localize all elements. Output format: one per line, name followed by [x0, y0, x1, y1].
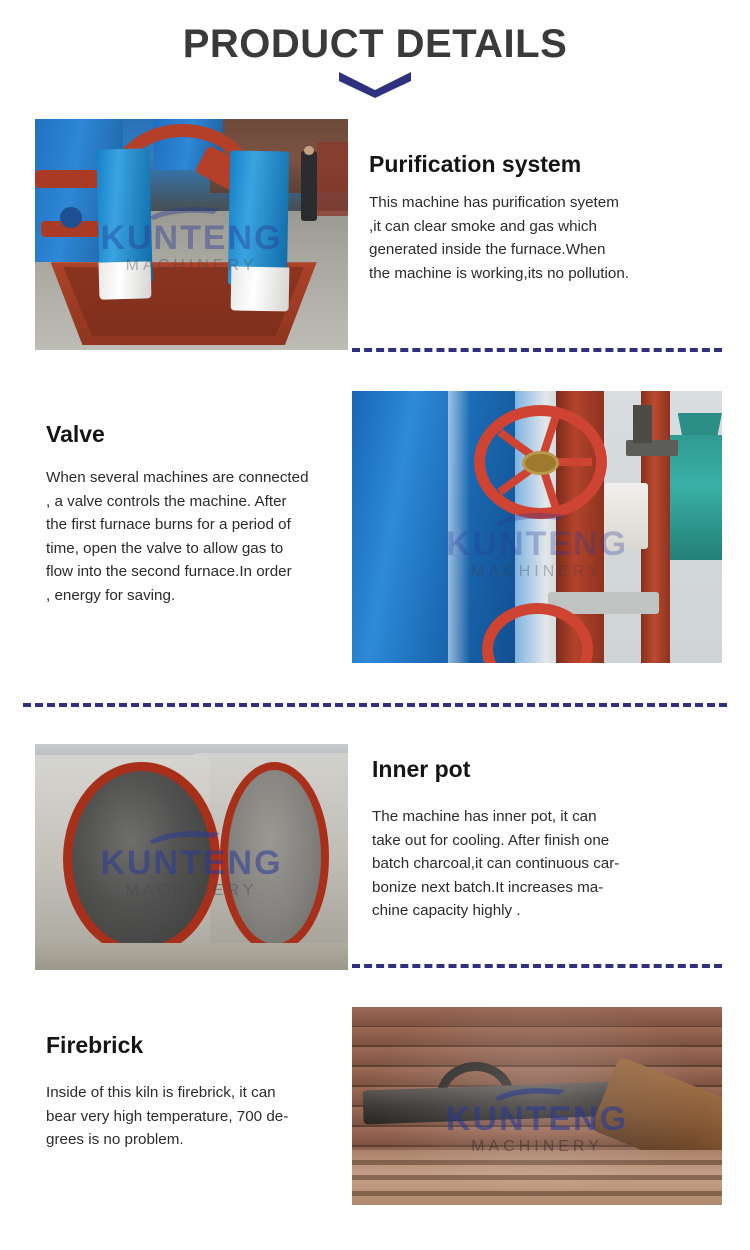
firebrick-photo: KUNTENG MACHINERY — [352, 1007, 722, 1205]
divider-after-valve — [23, 703, 727, 707]
inner-pot-photo: KUNTENG MACHINERY — [35, 744, 348, 970]
section-heading-firebrick: Firebrick — [46, 1032, 143, 1059]
section-body-purification: This machine has purification syetem ,it… — [369, 191, 709, 285]
section-heading-innerpot: Inner pot — [372, 756, 470, 783]
section-body-firebrick: Inside of this kiln is firebrick, it can… — [46, 1081, 346, 1152]
valve-photo: KUNTENG MACHINERY — [352, 391, 722, 663]
section-heading-valve: Valve — [46, 421, 105, 448]
section-heading-purification: Purification system — [369, 151, 581, 178]
section-body-innerpot: The machine has inner pot, it can take o… — [372, 805, 717, 923]
section-body-valve: When several machines are connected , a … — [46, 466, 346, 607]
page-title: PRODUCT DETAILS — [0, 22, 750, 67]
purification-system-photo: KUNTENG MACHINERY — [35, 119, 348, 350]
chevron-down-icon — [339, 72, 411, 98]
divider-after-purification — [352, 348, 722, 352]
divider-after-innerpot — [352, 964, 722, 968]
